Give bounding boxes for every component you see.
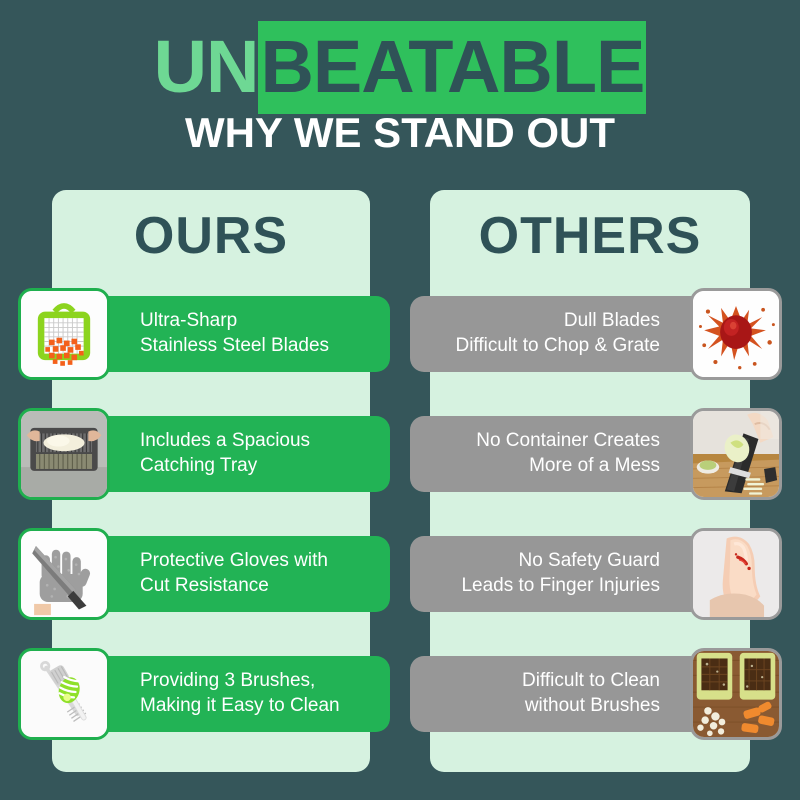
others-drawback-line2-2: More of a Mess (476, 454, 660, 479)
header-banner: UNBEATABLE WHY WE STAND OUT (0, 0, 800, 180)
others-drawback-pill-1: Dull Blades Difficult to Chop & Grate (410, 296, 722, 372)
ours-feature-pill-3: Protective Gloves with Cut Resistance (78, 536, 390, 612)
ours-feature-line1-3: Protective Gloves with (140, 549, 328, 574)
ours-feature-line1-4: Providing 3 Brushes, (140, 669, 340, 694)
ours-feature-pill-4: Providing 3 Brushes, Making it Easy to C… (78, 656, 390, 732)
ours-feature-pill-2: Includes a Spacious Catching Tray (78, 416, 390, 492)
ours-feature-pill-1: Ultra-Sharp Stainless Steel Blades (78, 296, 390, 372)
main-title-prefix: UN (154, 25, 259, 108)
squashed-tomato-splat-icon (690, 288, 782, 380)
others-row-2: No Container Creates More of a Mess (410, 408, 782, 500)
cut-resistant-glove-holding-knife-icon (18, 528, 110, 620)
others-drawback-line2-4: without Brushes (522, 694, 660, 719)
ours-row-3: Protective Gloves with Cut Resistance (18, 528, 390, 620)
dirty-blade-cartridges-on-board-icon (690, 648, 782, 740)
others-drawback-line1-4: Difficult to Clean (522, 669, 660, 694)
ours-feature-line2-4: Making it Easy to Clean (140, 694, 340, 719)
ours-feature-line2-2: Catching Tray (140, 454, 310, 479)
ours-row-2: Includes a Spacious Catching Tray (18, 408, 390, 500)
ours-feature-line2-3: Cut Resistance (140, 574, 328, 599)
subtitle: WHY WE STAND OUT (0, 112, 800, 154)
ours-heading: OURS (52, 198, 370, 274)
others-drawback-line1-2: No Container Creates (476, 429, 660, 454)
three-cleaning-brushes-icon (18, 648, 110, 740)
others-drawback-line2-3: Leads to Finger Injuries (461, 574, 660, 599)
others-row-1: Dull Blades Difficult to Chop & Grate (410, 288, 782, 380)
others-drawback-pill-2: No Container Creates More of a Mess (410, 416, 722, 492)
ours-row-4: Providing 3 Brushes, Making it Easy to C… (18, 648, 390, 740)
others-row-4: Difficult to Clean without Brushes (410, 648, 782, 740)
others-drawback-line1-3: No Safety Guard (461, 549, 660, 574)
others-heading: OTHERS (430, 198, 750, 274)
ours-feature-line2-1: Stainless Steel Blades (140, 334, 329, 359)
others-drawback-line2-1: Difficult to Chop & Grate (455, 334, 660, 359)
others-row-3: No Safety Guard Leads to Finger Injuries (410, 528, 782, 620)
others-drawback-line1-1: Dull Blades (455, 309, 660, 334)
mandoline-slicing-cabbage-mess-icon (690, 408, 782, 500)
catching-tray-with-shredded-food-icon (18, 408, 110, 500)
ours-feature-line1-2: Includes a Spacious (140, 429, 310, 454)
ours-feature-line1-1: Ultra-Sharp (140, 309, 329, 334)
vegetable-chopper-with-diced-carrots-icon (18, 288, 110, 380)
main-title: UNBEATABLE (0, 30, 800, 104)
others-drawback-pill-4: Difficult to Clean without Brushes (410, 656, 722, 732)
ours-row-1: Ultra-Sharp Stainless Steel Blades (18, 288, 390, 380)
injured-cut-finger-icon (690, 528, 782, 620)
others-drawback-pill-3: No Safety Guard Leads to Finger Injuries (410, 536, 722, 612)
main-title-highlight: BEATABLE (258, 21, 646, 114)
